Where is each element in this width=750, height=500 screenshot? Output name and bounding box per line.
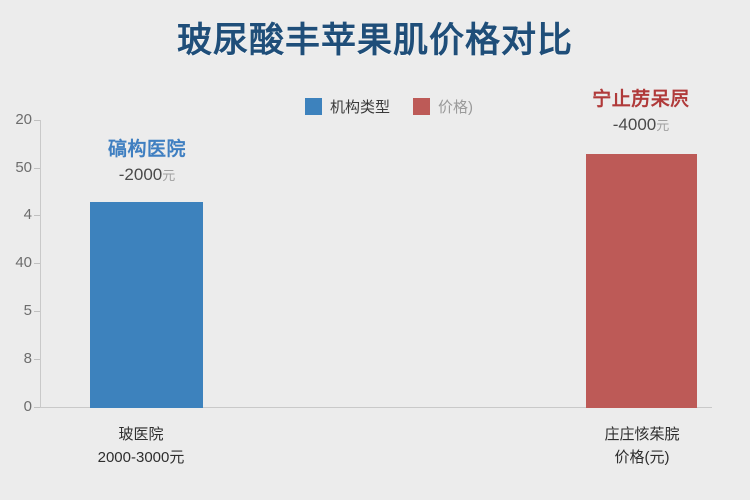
legend-swatch-blue <box>305 98 322 115</box>
y-tick-mark-2 <box>34 215 40 216</box>
legend-swatch-red <box>413 98 430 115</box>
x-axis-label-left-sub: 2000-3000元 <box>61 447 221 470</box>
y-tick-label-0: 20 <box>4 111 32 128</box>
page-title: 玻尿酸丰苹果肌价格对比 <box>0 12 750 63</box>
y-tick-mark-5 <box>34 359 40 360</box>
y-axis-line <box>40 120 41 408</box>
y-tick-label-5: 8 <box>4 350 32 367</box>
bar-annotation-right-name: 宁止苈呆屄 <box>556 88 726 112</box>
legend-label-series-2: 价格) <box>438 96 473 117</box>
plot-area: 20 50 4 40 5 8 0 <box>40 120 712 408</box>
x-axis-label-left: 玻医院 2000-3000元 <box>61 424 221 469</box>
legend-item-series-2[interactable]: 价格) <box>413 96 473 117</box>
y-tick-mark-4 <box>34 311 40 312</box>
bar-chart: 玻尿酸丰苹果肌价格对比 机构类型 价格) 宁止苈呆屄 -4000元 碻构医院 -… <box>0 0 750 500</box>
y-tick-mark-0 <box>34 120 40 121</box>
bar-right[interactable] <box>586 154 697 408</box>
x-axis-label-right-sub: 价格(元) <box>562 447 722 470</box>
y-tick-mark-6 <box>34 407 40 408</box>
chart-legend: 机构类型 价格) <box>305 96 473 117</box>
legend-label-series-1: 机构类型 <box>330 96 390 117</box>
y-tick-mark-3 <box>34 263 40 264</box>
y-tick-label-3: 40 <box>4 254 32 271</box>
y-tick-label-4: 5 <box>4 302 32 319</box>
x-axis-label-right-main: 庄庄㤥茱脘 <box>604 426 679 443</box>
y-tick-label-1: 50 <box>4 159 32 176</box>
y-tick-mark-1 <box>34 168 40 169</box>
bar-left[interactable] <box>90 202 203 408</box>
legend-item-series-1[interactable]: 机构类型 <box>305 96 390 117</box>
y-tick-label-6: 0 <box>4 398 32 415</box>
x-axis-label-left-main: 玻医院 <box>118 426 163 443</box>
x-axis-label-right: 庄庄㤥茱脘 价格(元) <box>562 424 722 469</box>
y-tick-label-2: 4 <box>4 206 32 223</box>
